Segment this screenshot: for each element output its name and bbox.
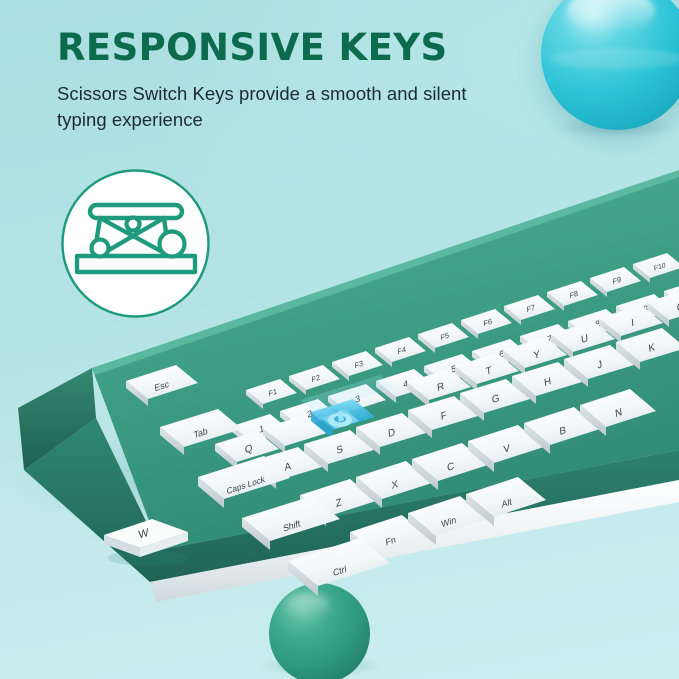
page-title: RESPONSIVE KEYS bbox=[57, 28, 527, 67]
cyan-sphere bbox=[541, 0, 679, 130]
svg-text:Z: Z bbox=[335, 497, 342, 510]
page-subtitle: Scissors Switch Keys provide a smooth an… bbox=[57, 81, 487, 134]
svg-text:U: U bbox=[581, 333, 589, 346]
svg-text:D: D bbox=[388, 427, 396, 440]
detached-keycap-w: W bbox=[98, 512, 194, 568]
svg-text:N: N bbox=[615, 407, 623, 420]
svg-text:T: T bbox=[485, 365, 492, 378]
svg-text:F: F bbox=[440, 410, 447, 423]
copy-block: RESPONSIVE KEYS Scissors Switch Keys pro… bbox=[57, 28, 527, 134]
svg-text:G: G bbox=[491, 393, 500, 407]
svg-text:R: R bbox=[437, 381, 445, 394]
svg-text:Q: Q bbox=[244, 443, 253, 457]
svg-text:C: C bbox=[447, 461, 455, 474]
product-feature-banner: RESPONSIVE KEYS Scissors Switch Keys pro… bbox=[0, 0, 679, 679]
svg-text:H: H bbox=[544, 376, 552, 389]
